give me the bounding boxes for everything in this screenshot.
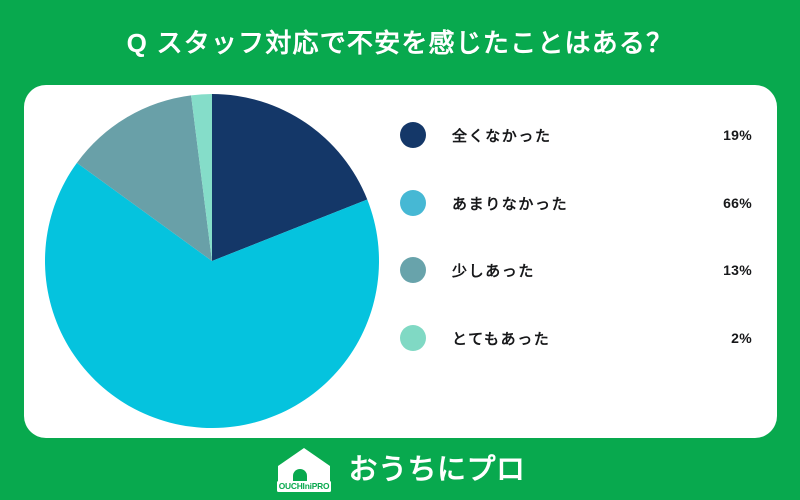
legend-item-2[interactable]: 少しあった 13% (400, 255, 752, 285)
title-banner: Q スタッフ対応で不安を感じたことはある？ (0, 0, 800, 85)
legend-label-2: 少しあった (452, 260, 535, 281)
legend-item-0[interactable]: 全くなかった 19% (400, 120, 752, 150)
legend-value-2: 13% (723, 262, 752, 278)
brand-logo[interactable]: OUCHIniPRO おうちにプロ (274, 446, 525, 494)
house-icon-svg: OUCHIniPRO (274, 446, 334, 494)
infographic-page: Q スタッフ対応で不安を感じたことはある？ 全くなかった 19% あまりなかった… (0, 0, 800, 500)
legend-item-1[interactable]: あまりなかった 66% (400, 188, 752, 218)
legend-label-1: あまりなかった (452, 193, 568, 214)
page-title: Q スタッフ対応で不安を感じたことはある？ (127, 30, 674, 56)
legend-label-3: とてもあった (452, 328, 550, 349)
footer: OUCHIniPRO おうちにプロ (0, 440, 800, 500)
legend-item-3[interactable]: とてもあった 2% (400, 323, 752, 353)
legend-value-0: 19% (723, 127, 752, 143)
logo-badge-text: OUCHIniPRO (279, 481, 330, 491)
legend-swatch-icon-1 (400, 190, 426, 216)
chart-card: 全くなかった 19% あまりなかった 66% 少しあった 13% とてもあった … (24, 85, 777, 438)
legend-swatch-icon-3 (400, 325, 426, 351)
legend-swatch-icon-0 (400, 122, 426, 148)
pie-chart-svg (44, 93, 380, 429)
house-icon: OUCHIniPRO (274, 446, 334, 494)
legend-swatch-icon-2 (400, 257, 426, 283)
chart-legend: 全くなかった 19% あまりなかった 66% 少しあった 13% とてもあった … (400, 107, 752, 419)
logo-wordmark: おうちにプロ (348, 456, 525, 485)
legend-value-1: 66% (723, 195, 752, 211)
legend-label-0: 全くなかった (452, 125, 552, 146)
legend-value-3: 2% (731, 330, 752, 346)
pie-chart (44, 93, 384, 433)
pie-slice-group (45, 94, 379, 428)
